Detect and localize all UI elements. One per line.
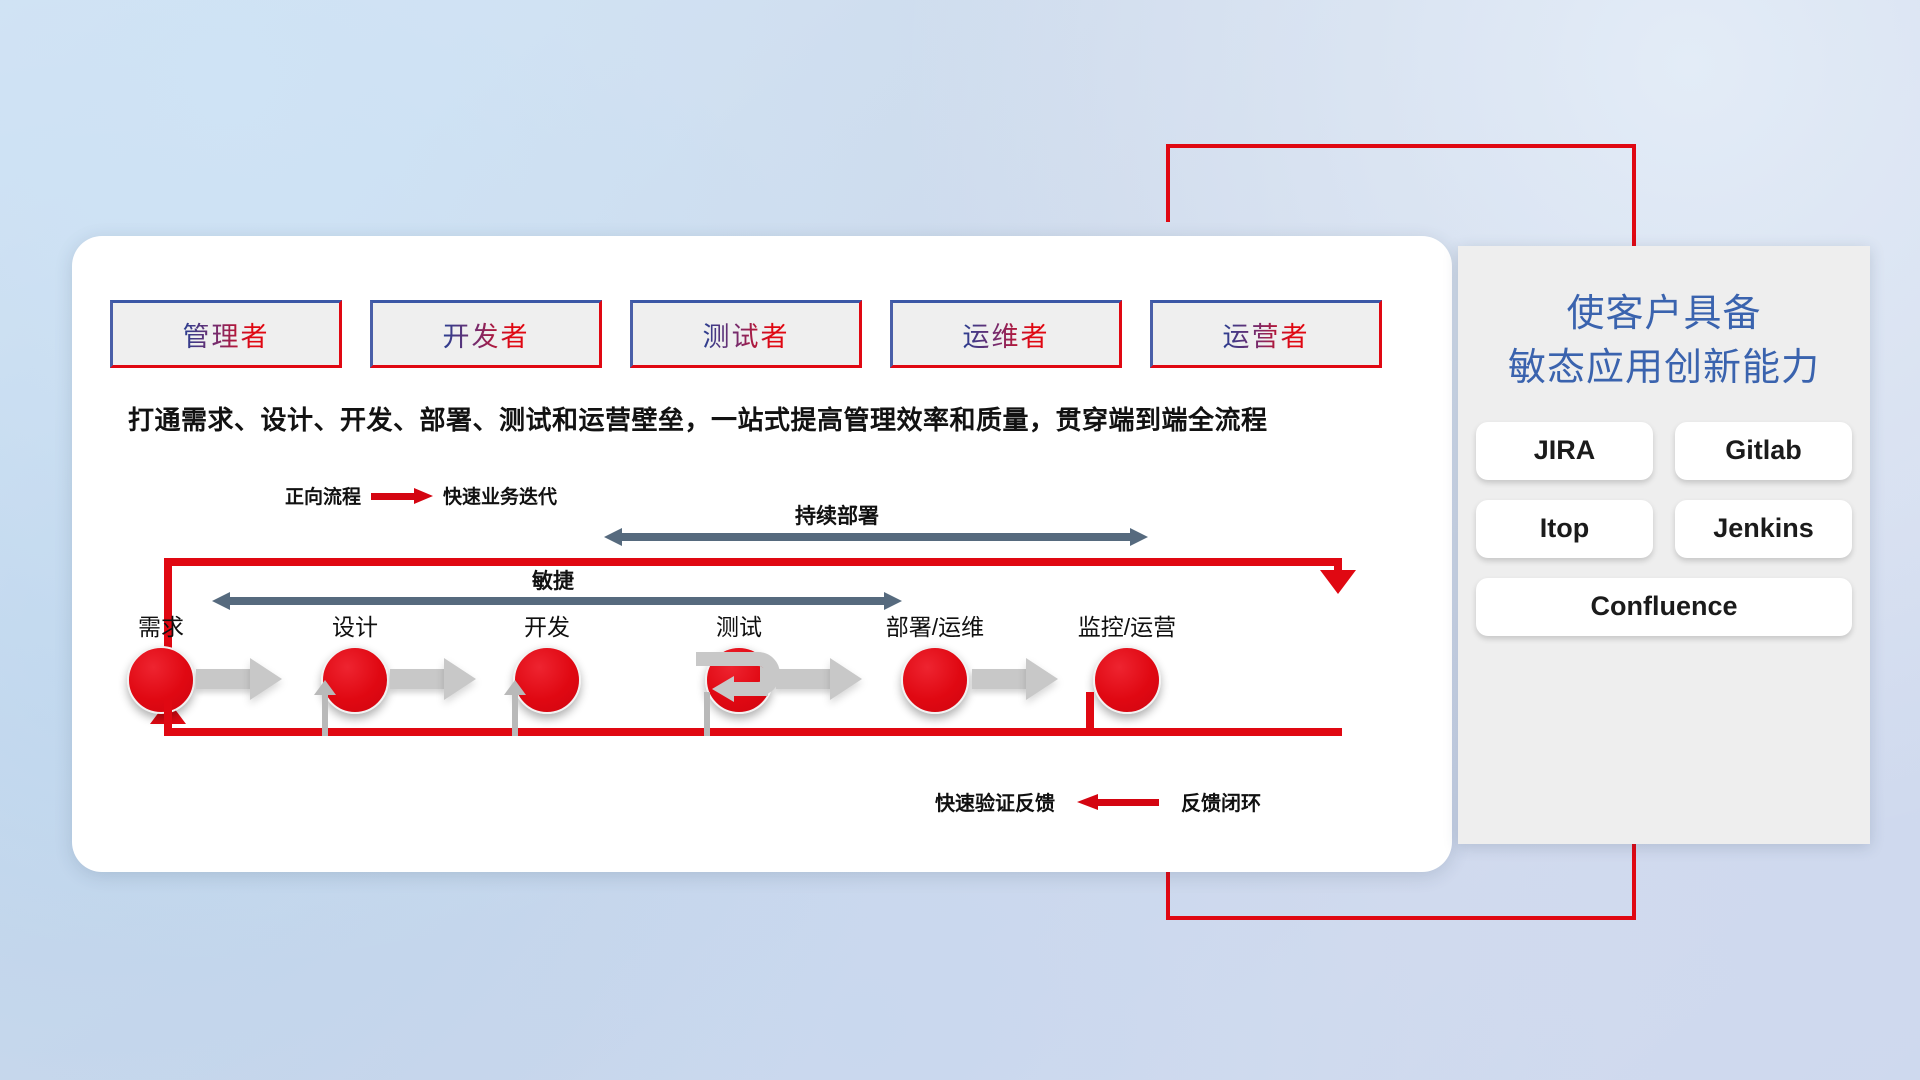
stem-development [512, 692, 518, 736]
stage-label: 部署/运维 [860, 608, 1010, 642]
flow-arrow-2-icon [390, 658, 476, 700]
stem-design [322, 692, 328, 736]
role-chip-row: 管理者 开发者 测试者 运维者 运营者 [110, 300, 1382, 368]
stem-development-arrow-icon [504, 680, 526, 695]
stem-requirement-red [164, 700, 172, 736]
legend-feedback-target-label: 快速验证反馈 [935, 787, 1055, 816]
flow-arrow-1-icon [196, 658, 282, 700]
arrow-right-red-icon [371, 488, 433, 504]
role-chip-label: 运营者 [1223, 315, 1310, 354]
role-chip-ops[interactable]: 运维者 [890, 300, 1122, 368]
legend-forward-flow: 正向流程 快速业务迭代 [285, 482, 557, 509]
tool-button-grid: JIRA Gitlab Itop Jenkins Confluence [1476, 422, 1852, 636]
capability-panel-title: 使客户具备 敏态应用创新能力 [1458, 288, 1870, 396]
feedback-loop-top-rail [164, 558, 1342, 566]
feedback-loop-arrow-down-icon [1320, 570, 1356, 594]
legend-feedback-source-label: 反馈闭环 [1181, 787, 1261, 816]
stem-design-arrow-icon [314, 680, 336, 695]
capability-panel: 使客户具备 敏态应用创新能力 JIRA Gitlab Itop Jenkins … [1458, 246, 1870, 844]
span-arrow-continuous-deployment-icon [604, 528, 1148, 546]
stage-label: 测试 [664, 608, 814, 642]
role-chip-operator[interactable]: 运营者 [1150, 300, 1382, 368]
legend-feedback-loop: 快速验证反馈 反馈闭环 [935, 787, 1261, 816]
legend-forward-source-label: 正向流程 [285, 482, 361, 509]
role-chip-manager[interactable]: 管理者 [110, 300, 342, 368]
span-label-agile: 敏捷 [532, 565, 574, 595]
headline-text: 打通需求、设计、开发、部署、测试和运营壁垒，一站式提高管理效率和质量，贯穿端到端… [128, 400, 1428, 437]
span-label-continuous-deployment: 持续部署 [795, 500, 879, 530]
role-chip-label: 测试者 [703, 315, 790, 354]
stage-label: 需求 [86, 608, 236, 642]
stage-node-dot [1093, 646, 1161, 714]
legend-forward-target-label: 快速业务迭代 [443, 482, 557, 509]
role-chip-label: 管理者 [183, 315, 270, 354]
tool-button-jira[interactable]: JIRA [1476, 422, 1653, 480]
stage-node-dot [901, 646, 969, 714]
connector-frame-left-upper [1166, 144, 1172, 222]
stem-monitor-red [1086, 692, 1094, 736]
flow-arrow-4-icon [972, 658, 1058, 700]
stage-label: 监控/运营 [1052, 608, 1202, 642]
connector-frame-bottom [1166, 916, 1636, 922]
role-chip-label: 运维者 [963, 315, 1050, 354]
tool-button-jenkins[interactable]: Jenkins [1675, 500, 1852, 558]
arrow-left-red-icon [1077, 794, 1159, 810]
role-chip-developer[interactable]: 开发者 [370, 300, 602, 368]
capability-panel-title-line1: 使客户具备 [1458, 288, 1870, 342]
stage-development[interactable]: 开发 [472, 608, 622, 714]
stage-node-dot [127, 646, 195, 714]
stage-label: 开发 [472, 608, 622, 642]
tool-button-gitlab[interactable]: Gitlab [1675, 422, 1852, 480]
stage-label: 设计 [280, 608, 430, 642]
role-chip-label: 开发者 [443, 315, 530, 354]
capability-panel-title-line2: 敏态应用创新能力 [1458, 342, 1870, 396]
tool-button-itop[interactable]: Itop [1476, 500, 1653, 558]
stem-testing [704, 692, 710, 736]
connector-frame-top [1166, 144, 1636, 150]
role-chip-tester[interactable]: 测试者 [630, 300, 862, 368]
tool-button-confluence[interactable]: Confluence [1476, 578, 1852, 636]
stage-monitor-operation[interactable]: 监控/运营 [1052, 608, 1202, 714]
